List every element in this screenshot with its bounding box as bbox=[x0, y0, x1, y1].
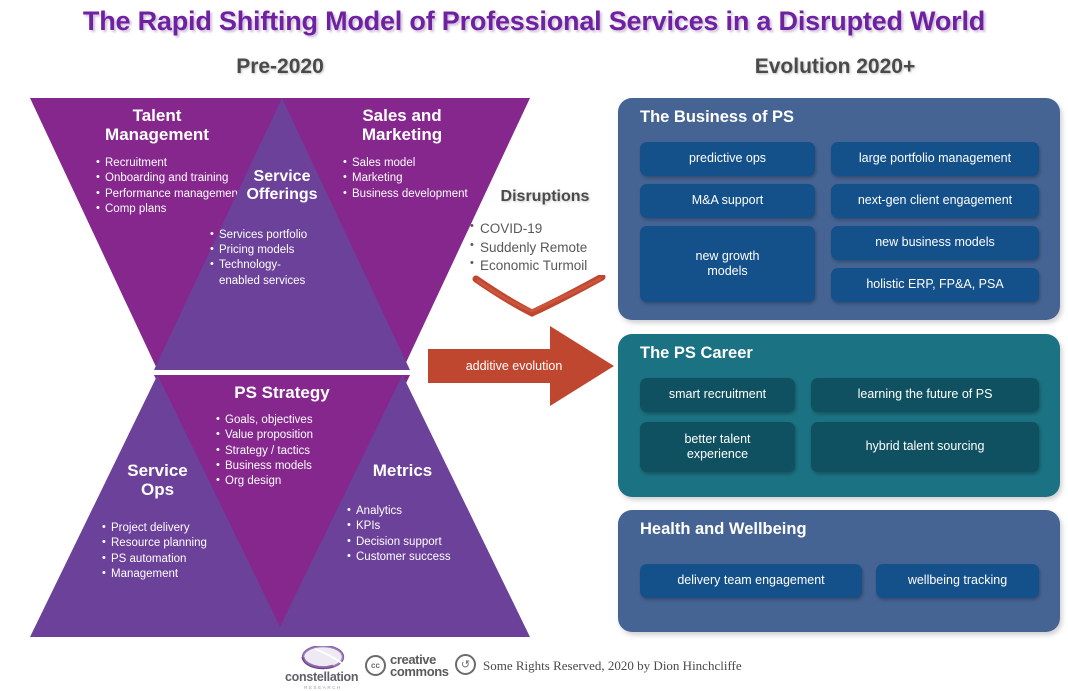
bullet-item: Resource planning bbox=[102, 536, 262, 551]
triangle-title: ServiceOfferings bbox=[154, 168, 410, 204]
chip-smart-recruitment[interactable]: smart recruitment bbox=[640, 378, 795, 412]
constellation-subtitle: RESEARCH bbox=[285, 685, 361, 690]
panel-title: The PS Career bbox=[640, 344, 753, 363]
triangle-bullets: Project delivery Resource planning PS au… bbox=[102, 521, 262, 582]
additive-evolution-arrow: additive evolution bbox=[428, 326, 618, 406]
triangle-metrics: Metrics Analytics KPIs Decision support … bbox=[275, 375, 530, 637]
column-heading-pre2020: Pre-2020 bbox=[30, 55, 530, 79]
cc-icon: cc bbox=[365, 655, 386, 676]
chip-wellbeing-tracking[interactable]: wellbeing tracking bbox=[876, 564, 1039, 598]
bullet-item: Pricing models bbox=[210, 243, 370, 258]
arrow-label: additive evolution bbox=[444, 349, 584, 383]
constellation-mark-icon bbox=[285, 646, 361, 670]
bullet-item: Management bbox=[102, 567, 262, 582]
panel-business-of-ps: The Business of PS predictive ops large … bbox=[618, 98, 1060, 320]
bullet-item: Technology-enabled services bbox=[210, 258, 370, 289]
triangle-bullets: Services portfolio Pricing models Techno… bbox=[210, 228, 370, 289]
triangle-service-offerings: ServiceOfferings Services portfolio Pric… bbox=[154, 98, 410, 370]
list-item: COVID-19 bbox=[470, 220, 620, 239]
share-alike-icon: ↺ bbox=[455, 654, 476, 675]
chip-holistic-erp-fpa-psa[interactable]: holistic ERP, FP&A, PSA bbox=[831, 268, 1039, 302]
triangle-title: ServiceOps bbox=[30, 461, 285, 499]
chip-new-growth-models[interactable]: new growthmodels bbox=[640, 226, 815, 302]
panel-title: The Business of PS bbox=[640, 108, 794, 127]
chip-next-gen-client-engagement[interactable]: next-gen client engagement bbox=[831, 184, 1039, 218]
disruptions-block: Disruptions COVID-19 Suddenly Remote Eco… bbox=[470, 188, 620, 276]
list-item: Economic Turmoil bbox=[470, 257, 620, 276]
creative-commons-wordmark: creative commons bbox=[390, 654, 449, 678]
bullet-item: PS automation bbox=[102, 552, 262, 567]
cc-line-2: commons bbox=[390, 666, 449, 678]
column-heading-evolution: Evolution 2020+ bbox=[610, 55, 1060, 79]
chip-ma-support[interactable]: M&A support bbox=[640, 184, 815, 218]
triangle-bullets: Analytics KPIs Decision support Customer… bbox=[347, 504, 507, 565]
panel-ps-career: The PS Career smart recruitment learning… bbox=[618, 334, 1060, 497]
creative-commons-badge[interactable]: cc creative commons bbox=[365, 654, 449, 678]
bullet-item: Project delivery bbox=[102, 521, 262, 536]
page-title: The Rapid Shifting Model of Professional… bbox=[0, 6, 1068, 37]
triangle-title: Metrics bbox=[275, 461, 530, 480]
constellation-wordmark: constellation bbox=[285, 670, 361, 684]
panel-title: Health and Wellbeing bbox=[640, 520, 807, 539]
chip-hybrid-talent-sourcing[interactable]: hybrid talent sourcing bbox=[811, 422, 1039, 472]
bullet-item: Decision support bbox=[347, 535, 507, 550]
list-item: Suddenly Remote bbox=[470, 239, 620, 258]
bullet-item: Services portfolio bbox=[210, 228, 370, 243]
chip-learning-the-future-of-ps[interactable]: learning the future of PS bbox=[811, 378, 1039, 412]
bullet-item: KPIs bbox=[347, 519, 507, 534]
panel-health-and-wellbeing: Health and Wellbeing delivery team engag… bbox=[618, 510, 1060, 632]
chip-delivery-team-engagement[interactable]: delivery team engagement bbox=[640, 564, 862, 598]
constellation-research-logo: constellation RESEARCH bbox=[285, 646, 361, 690]
checkmark-squiggle-icon bbox=[470, 275, 610, 320]
rights-text: Some Rights Reserved, 2020 by Dion Hinch… bbox=[483, 658, 742, 674]
bullet-item: Analytics bbox=[347, 504, 507, 519]
disruptions-title: Disruptions bbox=[470, 188, 620, 206]
chip-new-business-models[interactable]: new business models bbox=[831, 226, 1039, 260]
disruptions-list: COVID-19 Suddenly Remote Economic Turmoi… bbox=[470, 220, 620, 276]
chip-predictive-ops[interactable]: predictive ops bbox=[640, 142, 815, 176]
footer: constellation RESEARCH cc creative commo… bbox=[285, 646, 805, 690]
chip-large-portfolio-management[interactable]: large portfolio management bbox=[831, 142, 1039, 176]
triangle-service-ops: ServiceOps Project delivery Resource pla… bbox=[30, 375, 285, 637]
chip-better-talent-experience[interactable]: better talentexperience bbox=[640, 422, 795, 472]
bullet-item: Customer success bbox=[347, 550, 507, 565]
